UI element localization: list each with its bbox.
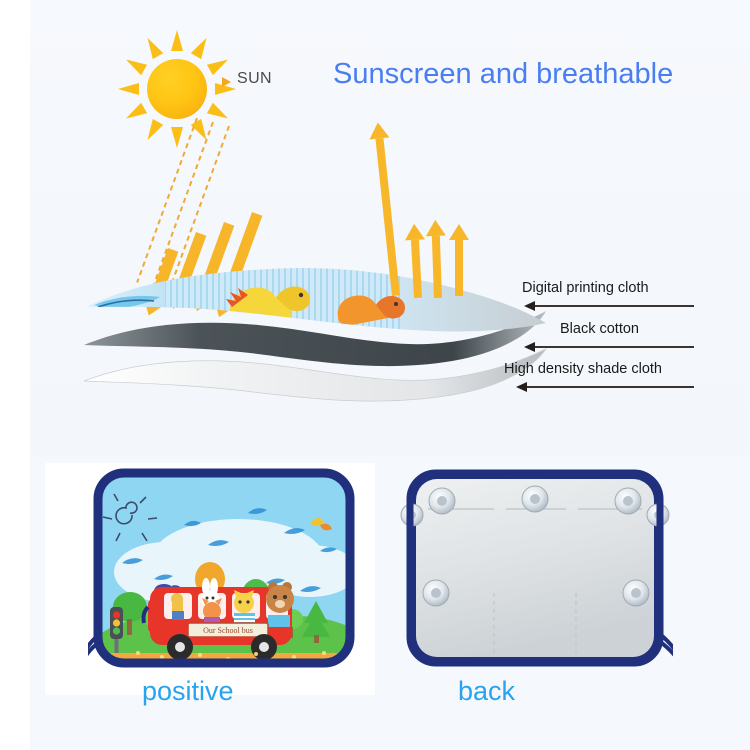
infographic-root: SUN Sunscreen and breathable [0, 0, 750, 750]
animal-giraffe [171, 593, 184, 620]
animal-bear [266, 582, 294, 627]
callout-arrow-icon [524, 301, 535, 311]
products-section: Our School bus [0, 455, 750, 750]
callout-line [534, 346, 694, 348]
product-positive-image: Our School bus [88, 467, 360, 679]
callout-label: Black cotton [560, 321, 639, 337]
caption-back: back [458, 676, 515, 707]
sun-pointer-icon [222, 77, 231, 87]
caption-positive: positive [142, 676, 234, 707]
callout-arrow-icon [516, 382, 527, 392]
bus-sign-text: Our School bus [203, 626, 253, 635]
callout-label: Digital printing cloth [522, 280, 649, 296]
sun-ray [142, 35, 163, 59]
callout-line [534, 305, 694, 307]
sun-ray [207, 54, 231, 75]
suction-cup [423, 580, 449, 606]
suction-cup [615, 488, 641, 514]
callout-arrow-icon [524, 342, 535, 352]
sun-ray [123, 54, 147, 75]
sun-ray [207, 103, 231, 124]
callout-label: High density shade cloth [504, 361, 662, 377]
sun-ray [123, 103, 147, 124]
sun-ray [142, 119, 163, 143]
animal-cat [234, 590, 255, 625]
sun-ray [171, 30, 183, 51]
product-back-image [398, 467, 673, 679]
sun-ray [171, 127, 183, 148]
callout-line [526, 386, 694, 388]
sun-icon [118, 30, 236, 148]
fabric-layers [80, 245, 550, 410]
sun-ray [118, 83, 139, 95]
page-title: Sunscreen and breathable [333, 58, 673, 91]
sun-core [147, 59, 207, 119]
suction-cup [623, 580, 649, 606]
diagram-section: SUN Sunscreen and breathable [0, 0, 750, 455]
sun-label: SUN [237, 70, 272, 88]
suction-cup [429, 488, 455, 514]
suction-cup [522, 486, 548, 512]
sun-ray [191, 35, 212, 59]
